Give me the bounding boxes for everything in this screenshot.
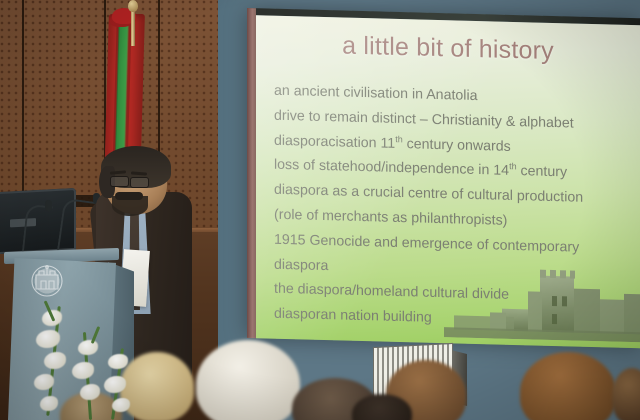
slide-title: a little bit of history bbox=[256, 29, 640, 68]
fortress-image bbox=[444, 255, 640, 342]
speaker-moustache bbox=[115, 192, 143, 200]
presentation-photo: a little bit of history an ancient civil… bbox=[0, 0, 640, 420]
flag-pole bbox=[131, 6, 135, 46]
audience-head bbox=[196, 340, 300, 420]
glasses-icon bbox=[110, 176, 129, 187]
glasses-icon bbox=[130, 177, 149, 188]
projection-screen: a little bit of history an ancient civil… bbox=[247, 8, 640, 348]
presentation-slide: a little bit of history an ancient civil… bbox=[256, 15, 640, 348]
flower-arrangement bbox=[34, 296, 164, 420]
flag-finial-icon bbox=[128, 0, 138, 12]
microphone-capsule bbox=[45, 200, 52, 211]
screen-left-edge bbox=[247, 8, 256, 338]
crest-emblem-icon bbox=[28, 262, 66, 300]
audience-head bbox=[520, 352, 616, 420]
audience-head bbox=[612, 368, 640, 420]
